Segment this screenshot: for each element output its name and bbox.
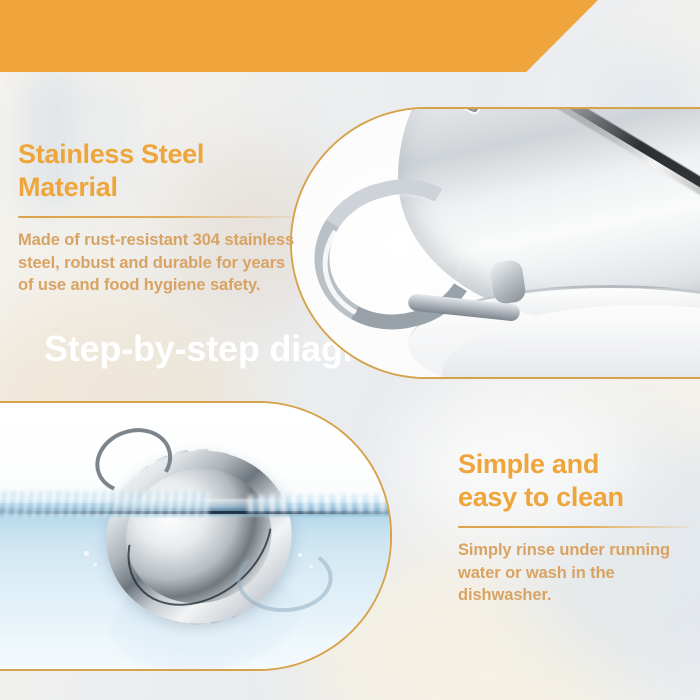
feature-heading: Stainless Steel Material bbox=[18, 138, 298, 204]
press-hinge bbox=[489, 259, 527, 305]
feature-heading-line-2: Material bbox=[18, 172, 118, 202]
heading-divider bbox=[458, 526, 690, 528]
feature-heading: Simple and easy to clean bbox=[458, 448, 690, 514]
water-bubble bbox=[84, 551, 89, 556]
heading-divider bbox=[18, 216, 298, 218]
feature-body: Simply rinse under running water or wash… bbox=[458, 539, 690, 607]
water-bubble bbox=[310, 565, 313, 568]
feature-heading-line-1: Stainless Steel bbox=[18, 139, 204, 169]
feature-text-clean: Simple and easy to clean Simply rinse un… bbox=[458, 448, 690, 607]
feature-image-card-material bbox=[290, 107, 700, 379]
feature-heading-line-2: easy to clean bbox=[458, 482, 624, 512]
feature-text-material: Stainless Steel Material Made of rust-re… bbox=[18, 138, 298, 297]
feature-heading-line-1: Simple and bbox=[458, 449, 599, 479]
press-tooth bbox=[456, 107, 487, 113]
feature-body: Made of rust-resistant 304 stainless ste… bbox=[18, 229, 298, 297]
water-bubble bbox=[298, 553, 302, 557]
product-photo-in-water bbox=[0, 403, 390, 669]
product-photo-closeup bbox=[292, 109, 700, 377]
press-in-water bbox=[90, 434, 308, 641]
water-bubble bbox=[94, 563, 97, 566]
water-ripples-right bbox=[248, 495, 392, 513]
infographic-page: Step-by-step diagram bbox=[0, 0, 700, 700]
header-banner bbox=[0, 0, 598, 72]
water-ripples-left bbox=[0, 491, 208, 517]
feature-image-card-clean bbox=[0, 401, 392, 671]
